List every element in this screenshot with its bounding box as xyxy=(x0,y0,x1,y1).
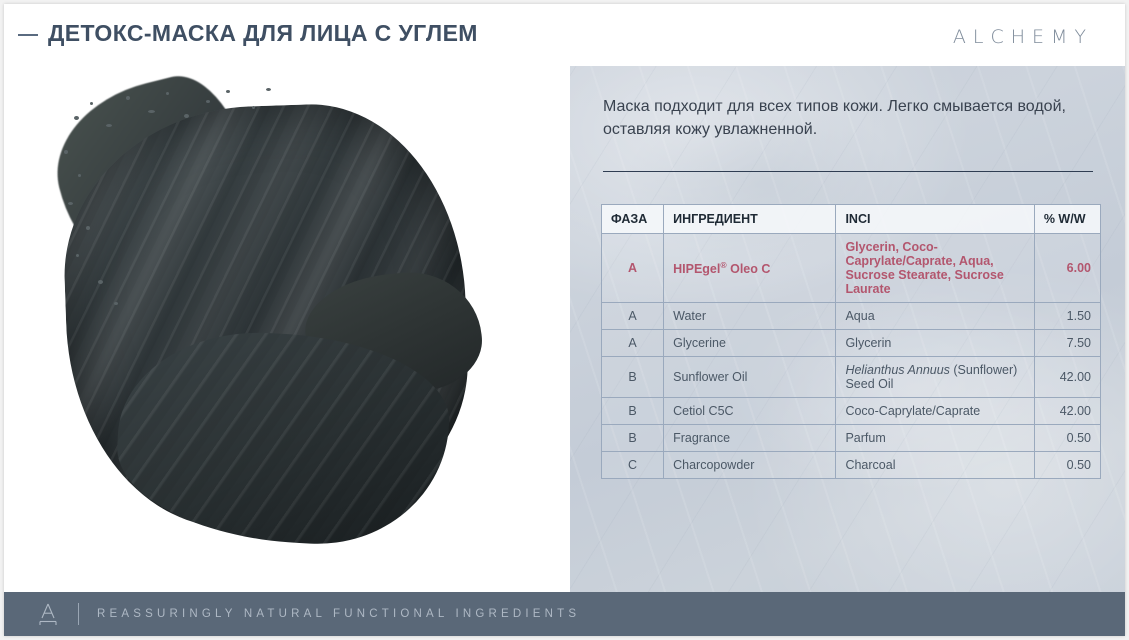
product-image-panel: Внешний вид: Черный глянцевый гель Вязко… xyxy=(4,66,570,600)
cell-ingredient: Charcopowder xyxy=(664,452,836,479)
cell-inci: Glycerin xyxy=(836,330,1034,357)
footer-content: REASSURINGLY NATURAL FUNCTIONAL INGREDIE… xyxy=(36,592,580,636)
cell-ingredient: Water xyxy=(664,303,836,330)
slide-canvas: ДЕТОКС-МАСКА ДЛЯ ЛИЦА С УГЛЕМ ALCHEMY xyxy=(4,4,1125,636)
cell-phase: A xyxy=(602,303,664,330)
cell-phase: C xyxy=(602,452,664,479)
title-group: ДЕТОКС-МАСКА ДЛЯ ЛИЦА С УГЛЕМ xyxy=(18,22,478,45)
cell-ingredient: Cetiol C5C xyxy=(664,398,836,425)
formulation-table: ФАЗА ИНГРЕДИЕНТ INCI % W/W AHIPEgel® Ole… xyxy=(601,204,1101,479)
cell-percent: 0.50 xyxy=(1034,452,1100,479)
cell-ingredient: HIPEgel® Oleo C xyxy=(664,234,836,303)
section-divider xyxy=(603,171,1093,172)
table-row: CCharcopowderCharcoal0.50 xyxy=(602,452,1101,479)
cell-inci: Parfum xyxy=(836,425,1034,452)
page-title: ДЕТОКС-МАСКА ДЛЯ ЛИЦА С УГЛЕМ xyxy=(48,22,478,45)
cell-ingredient: Glycerine xyxy=(664,330,836,357)
registered-mark: ® xyxy=(720,260,726,270)
cell-phase: A xyxy=(602,234,664,303)
table-row: BFragranceParfum0.50 xyxy=(602,425,1101,452)
cell-inci: Glycerin, Coco-Caprylate/Caprate, Aqua, … xyxy=(836,234,1034,303)
footer-tagline: REASSURINGLY NATURAL FUNCTIONAL INGREDIE… xyxy=(97,608,580,620)
table-head: ФАЗА ИНГРЕДИЕНТ INCI % W/W xyxy=(602,205,1101,234)
cell-inci: Charcoal xyxy=(836,452,1034,479)
formulation-table-wrapper: ФАЗА ИНГРЕДИЕНТ INCI % W/W AHIPEgel® Ole… xyxy=(601,204,1101,479)
cell-percent: 42.00 xyxy=(1034,357,1100,398)
cell-percent: 0.50 xyxy=(1034,425,1100,452)
title-dash-icon xyxy=(18,34,38,36)
charcoal-smear-graphic xyxy=(56,84,486,544)
cell-phase: B xyxy=(602,357,664,398)
charcoal-gel-photo xyxy=(4,66,570,546)
alchemy-a-mark-icon xyxy=(36,601,60,627)
table-row: BSunflower OilHelianthus Annuus (Sunflow… xyxy=(602,357,1101,398)
intro-description: Маска подходит для всех типов кожи. Легк… xyxy=(603,95,1073,141)
cell-phase: A xyxy=(602,330,664,357)
col-header-phase: ФАЗА xyxy=(602,205,664,234)
table-body: AHIPEgel® Oleo CGlycerin, Coco-Caprylate… xyxy=(602,234,1101,479)
cell-ingredient: Fragrance xyxy=(664,425,836,452)
col-header-ingredient: ИНГРЕДИЕНТ xyxy=(664,205,836,234)
table-row: AWaterAqua1.50 xyxy=(602,303,1101,330)
cell-phase: B xyxy=(602,425,664,452)
cell-phase: B xyxy=(602,398,664,425)
cell-percent: 6.00 xyxy=(1034,234,1100,303)
col-header-pct: % W/W xyxy=(1034,205,1100,234)
slide-header: ДЕТОКС-МАСКА ДЛЯ ЛИЦА С УГЛЕМ ALCHEMY xyxy=(4,4,1125,66)
cell-inci: Coco-Caprylate/Caprate xyxy=(836,398,1034,425)
cell-percent: 42.00 xyxy=(1034,398,1100,425)
table-row: AHIPEgel® Oleo CGlycerin, Coco-Caprylate… xyxy=(602,234,1101,303)
table-row: AGlycerineGlycerin7.50 xyxy=(602,330,1101,357)
footer-separator xyxy=(78,603,79,625)
table-header-row: ФАЗА ИНГРЕДИЕНТ INCI % W/W xyxy=(602,205,1101,234)
latin-binomial: Helianthus Annuus xyxy=(845,363,949,377)
cell-inci: Helianthus Annuus (Sunflower) Seed Oil xyxy=(836,357,1034,398)
cell-percent: 7.50 xyxy=(1034,330,1100,357)
col-header-inci: INCI xyxy=(836,205,1034,234)
smear-specks xyxy=(56,84,316,314)
slide-footer: REASSURINGLY NATURAL FUNCTIONAL INGREDIE… xyxy=(4,592,1125,636)
cell-ingredient: Sunflower Oil xyxy=(664,357,836,398)
cell-percent: 1.50 xyxy=(1034,303,1100,330)
brand-logo: ALCHEMY xyxy=(953,26,1093,48)
table-row: BCetiol C5CCoco-Caprylate/Caprate42.00 xyxy=(602,398,1101,425)
cell-inci: Aqua xyxy=(836,303,1034,330)
info-panel: Маска подходит для всех типов кожи. Легк… xyxy=(570,66,1125,600)
